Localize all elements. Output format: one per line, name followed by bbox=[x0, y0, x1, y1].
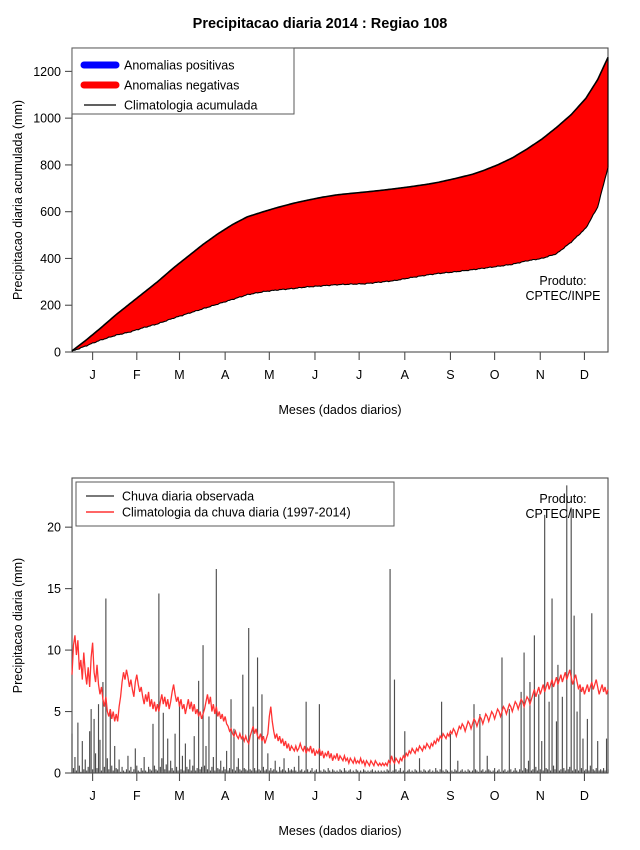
x-tick-label-daily-6: J bbox=[356, 789, 362, 803]
legend-label-daily-0: Chuva diaria observada bbox=[122, 490, 254, 504]
x-tick-label-4: M bbox=[264, 368, 274, 382]
chart-canvas: Precipitacao diaria 2014 : Regiao 108020… bbox=[0, 0, 640, 850]
daily-climatology-line bbox=[72, 635, 608, 765]
precipitation-report: Precipitacao diaria 2014 : Regiao 108020… bbox=[0, 0, 640, 850]
legend-label-daily-1: Climatologia da chuva diaria (1997-2014) bbox=[122, 506, 351, 520]
y-tick-label-daily-2: 10 bbox=[47, 644, 61, 658]
x-tick-label-daily-8: S bbox=[446, 789, 454, 803]
x-tick-label-2: M bbox=[174, 368, 184, 382]
x-tick-label-10: N bbox=[536, 368, 545, 382]
x-tick-label-daily-3: A bbox=[221, 789, 230, 803]
y-tick-label-daily-1: 5 bbox=[54, 705, 61, 719]
x-tick-label-daily-4: M bbox=[264, 789, 274, 803]
legend-label-2: Climatologia acumulada bbox=[124, 99, 257, 113]
y-tick-label-1: 200 bbox=[40, 299, 61, 313]
y-tick-label-5: 1000 bbox=[33, 112, 61, 126]
x-tick-label-daily-5: J bbox=[312, 789, 318, 803]
y-tick-label-0: 0 bbox=[54, 346, 61, 360]
y-tick-label-3: 600 bbox=[40, 205, 61, 219]
x-tick-label-11: D bbox=[580, 368, 589, 382]
x-tick-label-3: A bbox=[221, 368, 230, 382]
x-tick-label-1: F bbox=[133, 368, 141, 382]
x-tick-label-8: S bbox=[446, 368, 454, 382]
x-tick-label-9: O bbox=[490, 368, 500, 382]
x-tick-label-daily-1: F bbox=[133, 789, 141, 803]
y-tick-label-4: 800 bbox=[40, 158, 61, 172]
x-tick-label-0: J bbox=[89, 368, 95, 382]
y-tick-label-daily-0: 0 bbox=[54, 767, 61, 781]
legend-label-0: Anomalias positivas bbox=[124, 59, 234, 73]
y-tick-label-2: 400 bbox=[40, 252, 61, 266]
y-axis-label-daily: Precipitacao diaria (mm) bbox=[11, 558, 25, 693]
x-axis-label-daily: Meses (dados diarios) bbox=[279, 824, 402, 838]
x-tick-label-daily-2: M bbox=[174, 789, 184, 803]
x-tick-label-7: A bbox=[401, 368, 410, 382]
page-title: Precipitacao diaria 2014 : Regiao 108 bbox=[193, 16, 448, 32]
y-tick-label-daily-4: 20 bbox=[47, 521, 61, 535]
x-tick-label-daily-11: D bbox=[580, 789, 589, 803]
x-tick-label-5: J bbox=[312, 368, 318, 382]
producer-label-bottom-line1: Produto: bbox=[539, 492, 586, 506]
x-tick-label-daily-0: J bbox=[89, 789, 95, 803]
y-tick-label-6: 1200 bbox=[33, 65, 61, 79]
producer-label-top-line1: Produto: bbox=[539, 274, 586, 288]
legend-label-1: Anomalias negativas bbox=[124, 79, 239, 93]
producer-label-bottom-line2: CPTEC/INPE bbox=[525, 507, 600, 521]
x-tick-label-daily-10: N bbox=[536, 789, 545, 803]
y-tick-label-daily-3: 15 bbox=[47, 582, 61, 596]
producer-label-top-line2: CPTEC/INPE bbox=[525, 289, 600, 303]
x-tick-label-daily-9: O bbox=[490, 789, 500, 803]
x-tick-label-6: J bbox=[356, 368, 362, 382]
x-axis-label-accumulated: Meses (dados diarios) bbox=[279, 403, 402, 417]
x-tick-label-daily-7: A bbox=[401, 789, 410, 803]
y-axis-label-accumulated: Precipitacao diaria acumulada (mm) bbox=[11, 100, 25, 300]
observed-daily-bars bbox=[72, 485, 608, 773]
